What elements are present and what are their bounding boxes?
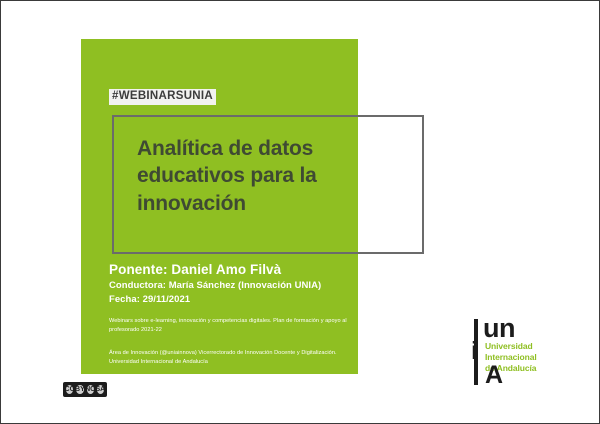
cc-mark-cc: CC [65, 384, 74, 395]
unia-logo: un i Universidad Internacional de Andalu… [471, 319, 549, 389]
decorative-outline-rectangle [112, 115, 424, 254]
slide-page: #WEBINARSUNIA Analítica de datos educati… [0, 0, 600, 424]
program-note: Webinars sobre e-learning, innovación y … [109, 317, 361, 335]
logo-a-text: A [485, 363, 503, 388]
logo-un-text: un [483, 315, 515, 342]
logo-name-line-1: Universidad [485, 341, 547, 352]
event-date: Fecha: 29/11/2021 [109, 293, 359, 307]
creative-commons-icon: CC BY NC SA [63, 382, 107, 397]
speaker-block: Ponente: Daniel Amo Filvà Conductora: Ma… [109, 261, 359, 307]
cc-mark-nc: NC [86, 384, 95, 395]
cc-mark-by: BY [75, 384, 84, 395]
presenter-name: Ponente: Daniel Amo Filvà [109, 261, 359, 279]
credit-note: Área de Innovación (@uniainnova) Vicerre… [109, 349, 361, 367]
cc-mark-sa: SA [96, 384, 105, 395]
host-name: Conductora: María Sánchez (Innovación UN… [109, 279, 359, 293]
webinar-hashtag: #WEBINARSUNIA [109, 89, 216, 105]
logo-i-text: i [471, 339, 478, 364]
